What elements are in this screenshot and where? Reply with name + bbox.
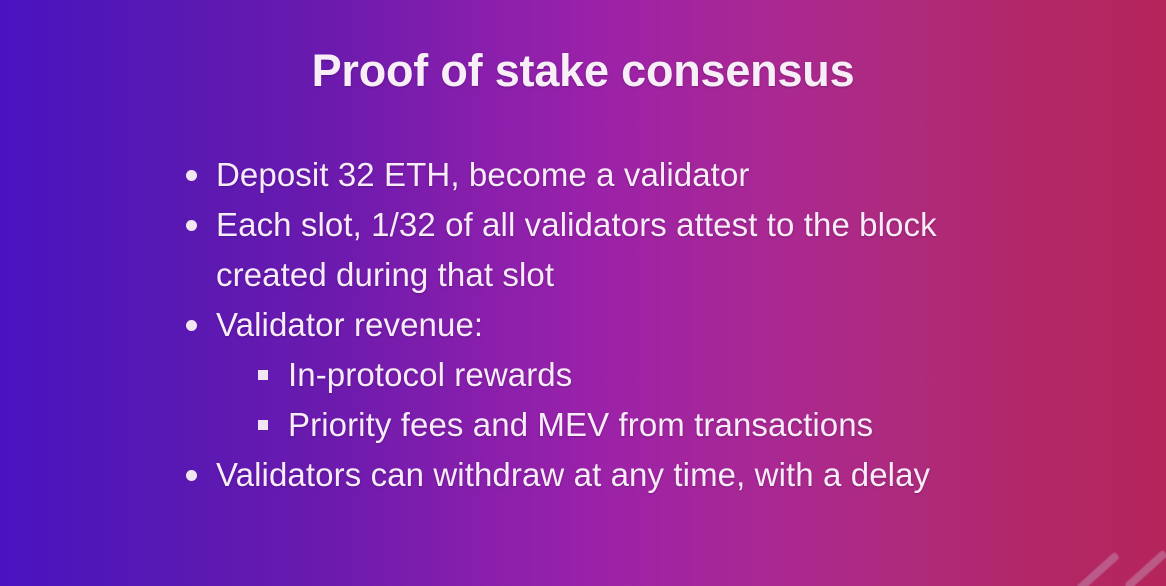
disc-bullet-icon bbox=[186, 150, 216, 181]
corner-watermark-icon bbox=[1016, 526, 1166, 586]
list-item: Validator revenue: bbox=[186, 300, 1126, 350]
list-item-text: Each slot, 1/32 of all validators attest… bbox=[216, 200, 986, 300]
sub-list-item: Priority fees and MEV from transactions bbox=[258, 400, 1126, 450]
square-bullet-icon bbox=[258, 400, 288, 430]
list-item: Validators can withdraw at any time, wit… bbox=[186, 450, 1126, 500]
sub-list-item-text: In-protocol rewards bbox=[288, 350, 1008, 400]
sub-list-item: In-protocol rewards bbox=[258, 350, 1126, 400]
disc-bullet-icon bbox=[186, 450, 216, 481]
list-item-text: Validators can withdraw at any time, wit… bbox=[216, 450, 986, 500]
slide-title: Proof of stake consensus bbox=[0, 46, 1166, 96]
bullet-list: Deposit 32 ETH, become a validator Each … bbox=[186, 150, 1126, 500]
sub-list-item-text: Priority fees and MEV from transactions bbox=[288, 400, 1008, 450]
list-item-text: Validator revenue: bbox=[216, 300, 986, 350]
presentation-slide: Proof of stake consensus Deposit 32 ETH,… bbox=[0, 0, 1166, 586]
list-item: Deposit 32 ETH, become a validator bbox=[186, 150, 1126, 200]
list-item-text: Deposit 32 ETH, become a validator bbox=[216, 150, 986, 200]
square-bullet-icon bbox=[258, 350, 288, 380]
disc-bullet-icon bbox=[186, 200, 216, 231]
disc-bullet-icon bbox=[186, 300, 216, 331]
list-item: Each slot, 1/32 of all validators attest… bbox=[186, 200, 1126, 300]
